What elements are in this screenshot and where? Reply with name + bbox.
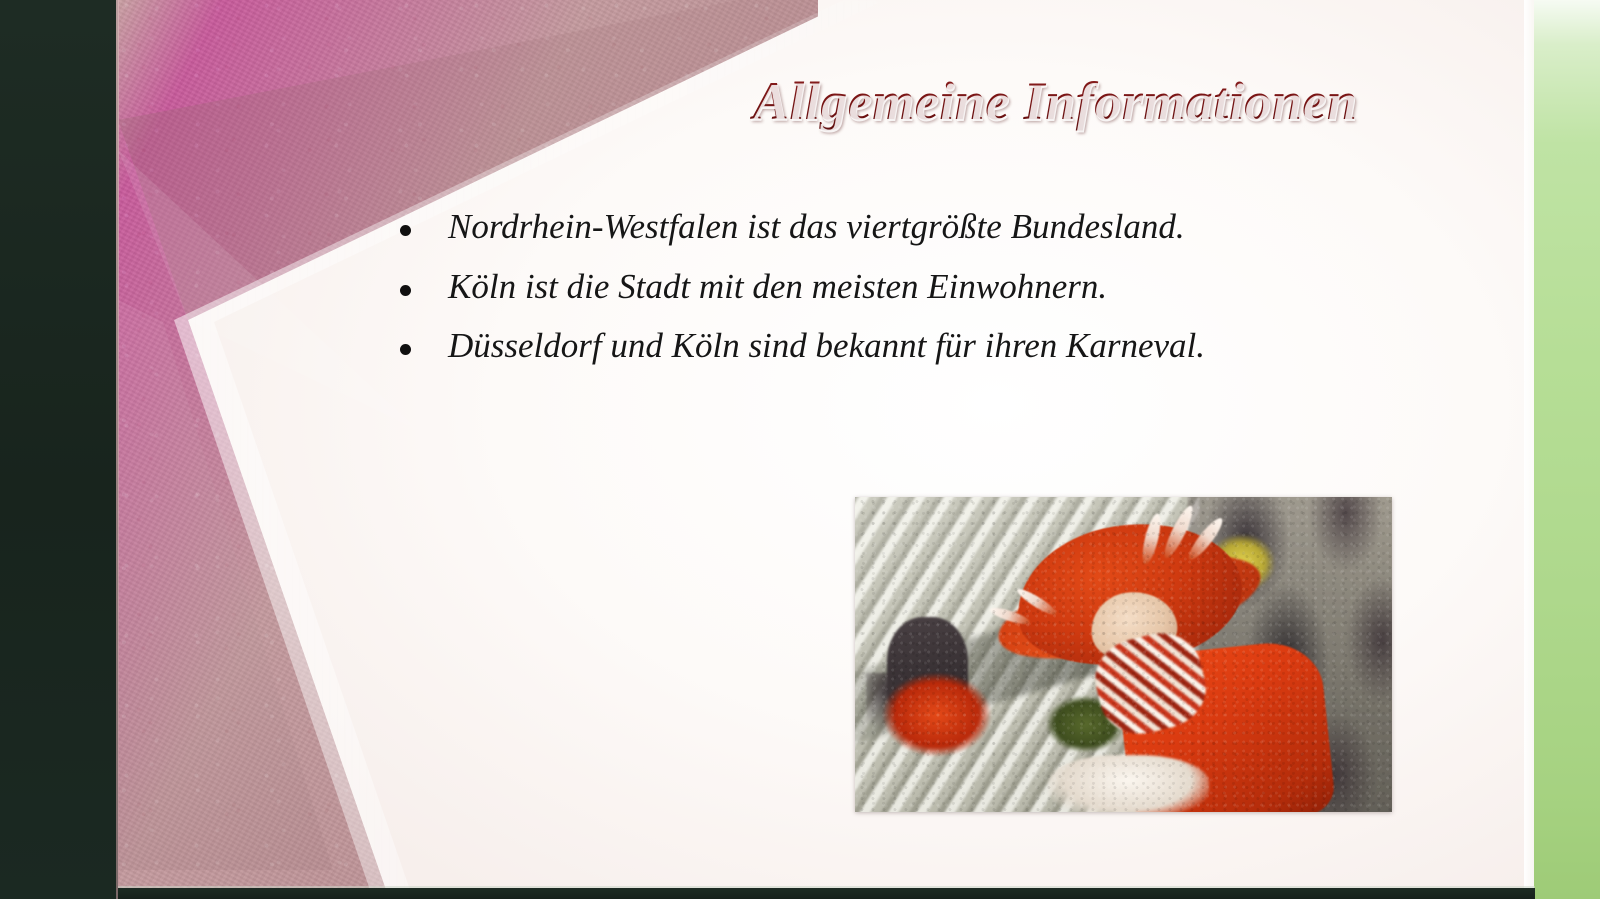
bullet-dot-icon	[400, 285, 411, 296]
left-band-hairline	[116, 0, 119, 899]
presentation-slide: Allgemeine Informationen Allgemeine Info…	[0, 0, 1600, 899]
list-item: Düsseldorf und Köln sind bekannt für ihr…	[392, 325, 1402, 367]
bullet-dot-icon	[400, 344, 411, 355]
karneval-photo	[855, 497, 1392, 812]
list-item-text: Köln ist die Stadt mit den meisten Einwo…	[448, 267, 1107, 306]
list-item: Köln ist die Stadt mit den meisten Einwo…	[392, 266, 1402, 308]
bottom-dark-bar	[118, 888, 1535, 899]
left-dark-band	[0, 0, 118, 899]
slide-title: Allgemeine Informationen	[620, 70, 1490, 132]
karneval-photo-canvas	[855, 497, 1392, 812]
bullet-dot-icon	[400, 225, 411, 236]
list-item-text: Nordrhein-Westfalen ist das viertgrößte …	[448, 207, 1185, 246]
list-item: Nordrhein-Westfalen ist das viertgrößte …	[392, 206, 1402, 248]
photo-grain	[855, 497, 1392, 812]
list-item-text: Düsseldorf und Köln sind bekannt für ihr…	[448, 326, 1205, 365]
bullet-list: Nordrhein-Westfalen ist das viertgrößte …	[392, 206, 1402, 385]
right-green-band	[1534, 0, 1600, 899]
